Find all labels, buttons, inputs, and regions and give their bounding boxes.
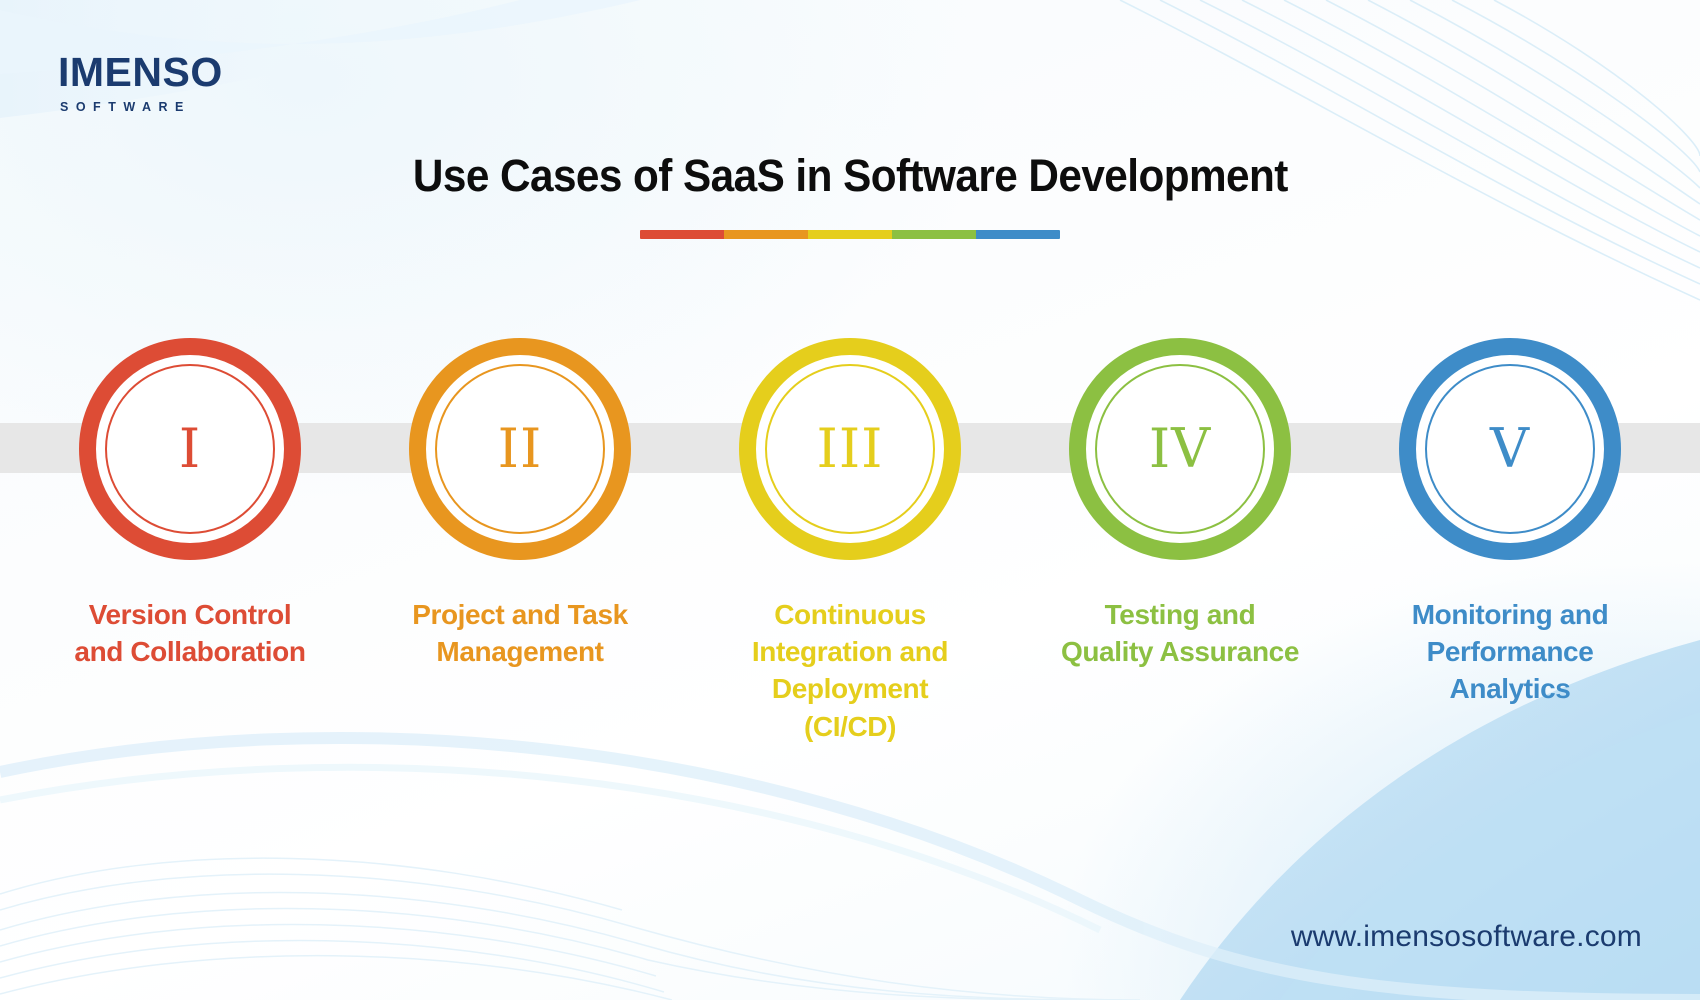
page-title: Use Cases of SaaS in Software Developmen…: [413, 150, 1288, 202]
timeline-step-4[interactable]: IV Testing and Quality Assurance: [1062, 338, 1298, 858]
step-circle-2[interactable]: II: [409, 338, 631, 560]
timeline-step-1[interactable]: I Version Control and Collaboration: [72, 338, 308, 858]
infographic-canvas: IMENSO SOFTWARE Use Cases of SaaS in Sof…: [0, 0, 1700, 1000]
step-numeral-3: III: [817, 422, 884, 476]
step-caption-1: Version Control and Collaboration: [65, 596, 315, 670]
rule-segment-3: [808, 230, 892, 239]
timeline-step-5[interactable]: V Monitoring and Performance Analytics: [1392, 338, 1628, 858]
step-circle-4[interactable]: IV: [1069, 338, 1291, 560]
step-circle-3[interactable]: III: [739, 338, 961, 560]
rule-segment-2: [724, 230, 808, 239]
header-block: Use Cases of SaaS in Software Developmen…: [0, 150, 1700, 239]
timeline-step-2[interactable]: II Project and Task Management: [402, 338, 638, 858]
rule-segment-1: [640, 230, 724, 239]
step-numeral-2: II: [498, 422, 543, 476]
step-caption-2: Project and Task Management: [395, 596, 645, 670]
brand-logo[interactable]: IMENSO SOFTWARE: [58, 52, 223, 114]
step-circle-1[interactable]: I: [79, 338, 301, 560]
footer-website-link[interactable]: www.imensosoftware.com: [1291, 920, 1642, 954]
step-circle-5[interactable]: V: [1399, 338, 1621, 560]
color-rule: [640, 230, 1060, 239]
step-caption-3: Continuous Integration and Deployment (C…: [725, 596, 975, 745]
step-numeral-4: IV: [1149, 422, 1211, 476]
rule-segment-4: [892, 230, 976, 239]
rule-segment-5: [976, 230, 1060, 239]
logo-wordmark: IMENSO: [58, 52, 223, 93]
timeline-step-3[interactable]: III Continuous Integration and Deploymen…: [732, 338, 968, 858]
logo-subtitle: SOFTWARE: [60, 100, 223, 114]
step-caption-5: Monitoring and Performance Analytics: [1385, 596, 1635, 708]
step-caption-4: Testing and Quality Assurance: [1055, 596, 1305, 670]
timeline-steps: I Version Control and Collaboration II P…: [0, 338, 1700, 858]
step-numeral-5: V: [1490, 422, 1530, 476]
step-numeral-1: I: [179, 422, 201, 476]
